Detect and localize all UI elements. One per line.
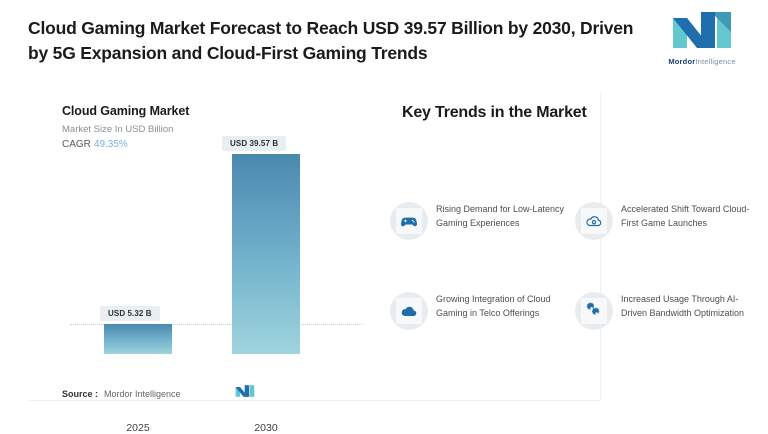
x-axis-tick-2025: 2025	[93, 422, 183, 434]
bar-2025[interactable]	[104, 324, 172, 354]
mordor-m-logo-icon	[654, 10, 750, 55]
trend-item: Rising Demand for Low-Latency Gaming Exp…	[390, 200, 575, 290]
trend-icon-wrap	[575, 202, 613, 240]
gamepad-icon	[396, 208, 422, 234]
key-trends-title: Key Trends in the Market	[402, 104, 587, 122]
brand-name: Mordor	[668, 57, 695, 66]
chart-title: Cloud Gaming Market	[62, 104, 189, 118]
trend-icon-wrap	[390, 292, 428, 330]
trend-text: Rising Demand for Low-Latency Gaming Exp…	[436, 200, 571, 231]
x-axis-tick-2030: 2030	[221, 422, 311, 434]
chart-source: Source : Mordor Intelligence	[62, 384, 255, 403]
trend-icon-wrap	[390, 202, 428, 240]
trend-text: Growing Integration of Cloud Gaming in T…	[436, 290, 571, 321]
trend-item: Accelerated Shift Toward Cloud-First Gam…	[575, 200, 760, 290]
cloud-icon	[396, 298, 422, 324]
gears-icon	[581, 298, 607, 324]
trend-item: Growing Integration of Cloud Gaming in T…	[390, 290, 575, 380]
trend-icon-wrap	[575, 292, 613, 330]
trend-item: Increased Usage Through AI-Driven Bandwi…	[575, 290, 760, 380]
key-trends-grid: Rising Demand for Low-Latency Gaming Exp…	[390, 200, 760, 380]
cloud-gear-icon	[581, 208, 607, 234]
brand-logo: MordorIntelligence	[654, 10, 750, 64]
source-value: Mordor Intelligence	[104, 389, 181, 399]
key-trends-section: Key Trends in the Market Rising Demand f…	[390, 96, 760, 396]
cagr-label: CAGR	[62, 139, 91, 150]
chart-plot-area: USD 5.32 B USD 39.57 B 2025 2030	[62, 154, 342, 354]
mordor-m-logo-small-icon	[235, 384, 255, 403]
trend-text: Increased Usage Through AI-Driven Bandwi…	[621, 290, 756, 321]
cagr-value: 49.35%	[94, 139, 128, 150]
bar-value-label-2030: USD 39.57 B	[222, 136, 286, 151]
page-title: Cloud Gaming Market Forecast to Reach US…	[28, 16, 648, 66]
chart-subtitle: Market Size In USD Billion	[62, 124, 173, 135]
bar-value-label-2025: USD 5.32 B	[100, 306, 160, 321]
page-header: Cloud Gaming Market Forecast to Reach US…	[0, 0, 768, 86]
trend-text: Accelerated Shift Toward Cloud-First Gam…	[621, 200, 756, 231]
chart-cagr: CAGR49.35%	[62, 139, 128, 150]
brand-logo-text: MordorIntelligence	[654, 57, 750, 66]
source-label: Source :	[62, 389, 98, 399]
bar-2030[interactable]	[232, 154, 300, 354]
brand-sub: Intelligence	[695, 57, 735, 66]
